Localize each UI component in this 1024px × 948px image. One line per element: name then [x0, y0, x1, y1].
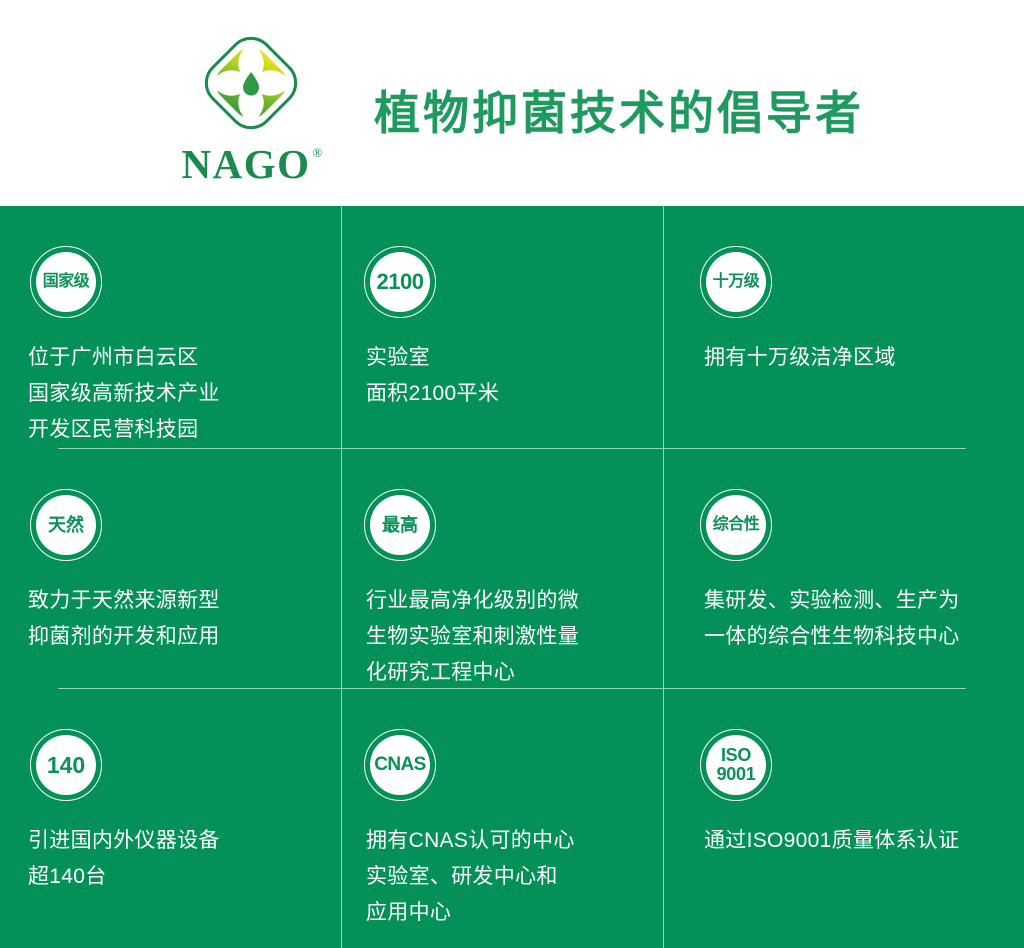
feature-cell: 十万级 拥有十万级洁净区域: [664, 206, 1024, 448]
feature-description: 通过ISO9001质量体系认证: [704, 823, 1024, 859]
feature-cell: CNAS 拥有CNAS认可的中心 实验室、研发中心和 应用中心: [342, 689, 663, 948]
feature-badge-line: CNAS: [374, 755, 425, 775]
feature-description-line: 位于广州市白云区: [28, 340, 341, 376]
feature-description-line: 生物实验室和刺激性量: [366, 619, 663, 655]
feature-badge-line: 9001: [717, 765, 756, 784]
feature-badge: 2100: [364, 246, 436, 318]
feature-badge: 综合性: [700, 489, 772, 561]
features-grid: 国家级 位于广州市白云区 国家级高新技术产业 开发区民营科技园 2100: [0, 206, 1024, 948]
feature-description: 致力于天然来源新型 抑菌剂的开发和应用: [28, 583, 341, 655]
feature-badge-disc: 2100: [370, 252, 430, 312]
feature-badge-line: 国家级: [43, 274, 90, 291]
feature-description-line: 应用中心: [366, 895, 663, 931]
feature-description: 拥有CNAS认可的中心 实验室、研发中心和 应用中心: [366, 823, 663, 931]
feature-description: 位于广州市白云区 国家级高新技术产业 开发区民营科技园: [28, 340, 341, 448]
feature-badge: 国家级: [30, 246, 102, 318]
registered-trademark-icon: ®: [313, 145, 323, 160]
feature-cell: 最高 行业最高净化级别的微 生物实验室和刺激性量 化研究工程中心: [342, 449, 663, 688]
feature-badge-disc: 天然: [36, 495, 96, 555]
feature-description-line: 开发区民营科技园: [28, 412, 341, 448]
feature-cell: 综合性 集研发、实验检测、生产为 一体的综合性生物科技中心: [664, 449, 1024, 688]
feature-badge-line: 最高: [382, 516, 418, 535]
feature-cell: 天然 致力于天然来源新型 抑菌剂的开发和应用: [0, 449, 341, 688]
feature-badge: CNAS: [364, 729, 436, 801]
feature-description-line: 拥有CNAS认可的中心: [366, 823, 663, 859]
feature-description-line: 集研发、实验检测、生产为: [704, 583, 1024, 619]
feature-description-line: 通过ISO9001质量体系认证: [704, 823, 1024, 859]
feature-description-line: 致力于天然来源新型: [28, 583, 341, 619]
feature-badge-line: ISO: [721, 746, 751, 765]
feature-badge-line: 综合性: [713, 517, 760, 534]
feature-description: 行业最高净化级别的微 生物实验室和刺激性量 化研究工程中心: [366, 583, 663, 691]
features-panel: 国家级 位于广州市白云区 国家级高新技术产业 开发区民营科技园 2100: [0, 206, 1024, 948]
feature-badge-line: 天然: [48, 516, 84, 535]
feature-badge-line: 140: [47, 753, 85, 777]
feature-description-line: 国家级高新技术产业: [28, 376, 341, 412]
feature-description-line: 面积2100平米: [366, 376, 663, 412]
nago-flower-logo-icon: [192, 24, 310, 142]
feature-description-line: 实验室、研发中心和: [366, 859, 663, 895]
feature-badge-disc: 综合性: [706, 495, 766, 555]
feature-badge: 140: [30, 729, 102, 801]
feature-badge-disc: 国家级: [36, 252, 96, 312]
feature-description: 集研发、实验检测、生产为 一体的综合性生物科技中心: [704, 583, 1024, 655]
feature-badge-disc: 140: [36, 735, 96, 795]
feature-description-line: 行业最高净化级别的微: [366, 583, 663, 619]
feature-description: 拥有十万级洁净区域: [704, 340, 1024, 376]
feature-badge-line: 十万级: [713, 274, 760, 291]
feature-description-line: 实验室: [366, 340, 663, 376]
feature-description-line: 超140台: [28, 859, 341, 895]
header: NAGO® 植物抑菌技术的倡导者: [0, 0, 1024, 206]
feature-cell: 140 引进国内外仪器设备 超140台: [0, 689, 341, 948]
brand-wordmark-text: NAGO: [182, 141, 311, 187]
brand-wordmark: NAGO®: [182, 144, 321, 185]
feature-badge: 天然: [30, 489, 102, 561]
feature-cell: 国家级 位于广州市白云区 国家级高新技术产业 开发区民营科技园: [0, 206, 341, 448]
feature-badge: 最高: [364, 489, 436, 561]
feature-description-line: 引进国内外仪器设备: [28, 823, 341, 859]
feature-badge-disc: 十万级: [706, 252, 766, 312]
feature-description-line: 一体的综合性生物科技中心: [704, 619, 1024, 655]
brand-logo-block: NAGO®: [178, 22, 324, 182]
poster-page: NAGO® 植物抑菌技术的倡导者 国家级 位于广州市白云区 国家级高新技术产业 …: [0, 0, 1024, 948]
feature-badge: ISO 9001: [700, 729, 772, 801]
feature-badge-line: 2100: [377, 270, 424, 293]
feature-description-line: 抑菌剂的开发和应用: [28, 619, 341, 655]
feature-badge-disc: CNAS: [370, 735, 430, 795]
feature-description-line: 化研究工程中心: [366, 655, 663, 691]
feature-description: 实验室 面积2100平米: [366, 340, 663, 412]
feature-badge-disc: ISO 9001: [706, 735, 766, 795]
feature-cell: 2100 实验室 面积2100平米: [342, 206, 663, 448]
feature-description-line: 拥有十万级洁净区域: [704, 340, 1024, 376]
feature-description: 引进国内外仪器设备 超140台: [28, 823, 341, 895]
feature-badge-disc: 最高: [370, 495, 430, 555]
feature-badge: 十万级: [700, 246, 772, 318]
feature-cell: ISO 9001 通过ISO9001质量体系认证: [664, 689, 1024, 948]
page-headline: 植物抑菌技术的倡导者: [374, 86, 864, 141]
